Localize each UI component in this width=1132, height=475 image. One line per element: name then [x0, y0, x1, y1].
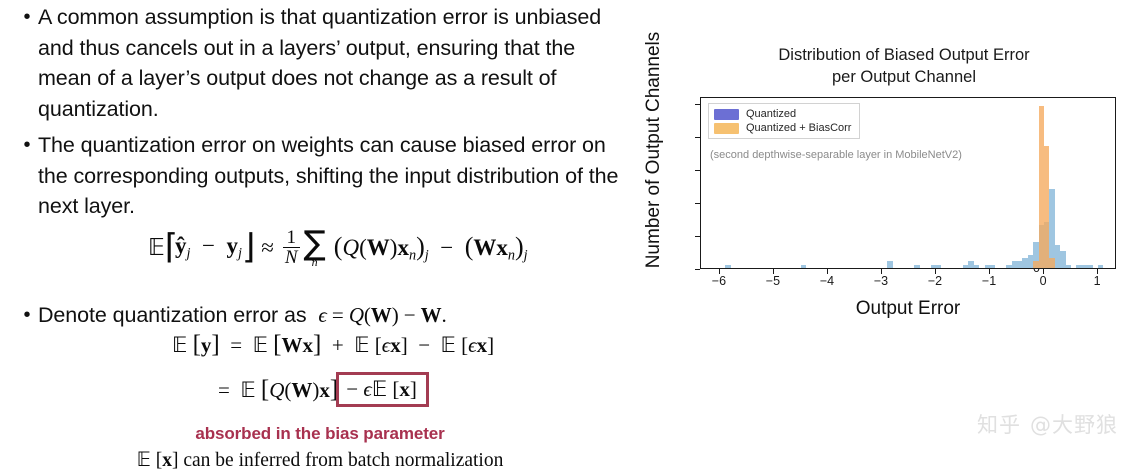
x-tick-mark [827, 269, 828, 274]
equation-expectation-expansion: 𝔼 [y] = 𝔼 [Wx] + 𝔼 [ϵx] − 𝔼 [ϵx] [172, 331, 494, 359]
bullet-item-1: • A common assumption is that quantizati… [16, 2, 626, 124]
watermark-handle: @大野狼 [1030, 409, 1118, 439]
caption-absorbed-in-bias: absorbed in the bias parameter [0, 424, 640, 444]
x-tick-label: −6 [699, 274, 739, 288]
x-tick-mark [989, 269, 990, 274]
caption-batchnorm: 𝔼 [x] can be inferred from batch normali… [0, 448, 640, 472]
legend-swatch-icon [714, 109, 739, 120]
bullet-text-2: The quantization error on weights can ca… [38, 130, 631, 222]
histogram-bar [1098, 265, 1103, 268]
bullet-item-2: • The quantization error on weights can … [16, 130, 631, 222]
histogram-bar [887, 261, 892, 268]
denote-equation: ϵ = Q(W) − W. [318, 303, 446, 327]
histogram-bar [1087, 265, 1092, 268]
x-tick-label: −4 [807, 274, 847, 288]
slide-content: • A common assumption is that quantizati… [0, 0, 640, 475]
x-tick-label: −5 [753, 274, 793, 288]
equation-1-body: ŷj − yj [175, 233, 242, 263]
chart-annotation: (second depthwise-separable layer in Mob… [710, 149, 962, 161]
legend-label-quantized: Quantized [746, 108, 796, 120]
zhihu-logo: 知乎 [977, 409, 1021, 439]
approx-sign: ≈ [261, 235, 274, 261]
y-axis-label: Number of Output Channels [643, 25, 665, 275]
x-tick-label: 1 [1077, 274, 1117, 288]
bullet-marker-icon: • [16, 130, 38, 160]
legend-swatch-icon [714, 123, 739, 134]
expectation-operator: 𝔼 [148, 235, 165, 261]
highlight-box-bias-term: − ϵ𝔼 [x] [336, 372, 429, 407]
equation-bias-absorbed: = 𝔼 [Q(W)x] − ϵ𝔼 [x] [218, 372, 429, 407]
histogram-bar [936, 265, 941, 268]
x-tick-label: 0 [1023, 274, 1063, 288]
histogram-bar [1044, 146, 1049, 268]
x-tick-label: −1 [969, 274, 1009, 288]
x-tick-mark [773, 269, 774, 274]
bullet-text-3: Denote quantization error as ϵ = Q(W) − … [38, 300, 447, 331]
bullet-item-3: • Denote quantization error as ϵ = Q(W) … [16, 300, 616, 331]
legend-label-quantized-biascorr: Quantized + BiasCorr [746, 122, 851, 134]
chart-title-line-2: per Output Channel [684, 66, 1124, 88]
x-tick-label: −3 [861, 274, 901, 288]
histogram-bar [990, 265, 995, 268]
chart-title: Distribution of Biased Output Error per … [684, 44, 1124, 88]
histogram-bar [914, 265, 919, 268]
summation-symbol: ∑ n [304, 229, 326, 267]
y-tick-mark [695, 269, 700, 270]
chart-legend: Quantized Quantized + BiasCorr [708, 103, 860, 139]
legend-item-quantized[interactable]: Quantized [714, 108, 851, 120]
x-tick-mark [1043, 269, 1044, 274]
bullet-text-1: A common assumption is that quantization… [38, 2, 626, 124]
histogram-bar [1049, 258, 1054, 268]
x-tick-mark [1097, 269, 1098, 274]
watermark: 知乎 @大野狼 [977, 409, 1118, 439]
equation-expected-error: 𝔼 ⌈ ŷj − yj ⌋ ≈ 1 N ∑ n (Q(W)xn)j − (Wxn… [148, 228, 528, 268]
bullet-marker-icon: • [16, 300, 38, 330]
histogram-bar [801, 265, 806, 268]
x-tick-mark [719, 269, 720, 274]
x-tick-label: −2 [915, 274, 955, 288]
x-axis-label: Output Error [698, 298, 1118, 320]
bullet-marker-icon: • [16, 2, 38, 32]
histogram-bar [725, 265, 730, 268]
x-tick-mark [881, 269, 882, 274]
x-tick-mark [935, 269, 936, 274]
histogram-bar [974, 265, 979, 268]
legend-item-quantized-biascorr[interactable]: Quantized + BiasCorr [714, 122, 851, 134]
equation-3-left: = 𝔼 [Q(W)x] [218, 376, 338, 404]
fraction-one-over-n: 1 N [283, 228, 300, 268]
equation-1-rhs: (Q(W)xn)j − (Wxn)j [334, 232, 528, 265]
histogram-bar [1066, 265, 1071, 268]
bracket-close: ⌋ [242, 234, 255, 261]
chart-title-line-1: Distribution of Biased Output Error [684, 44, 1124, 66]
chart-figure: Distribution of Biased Output Error per … [624, 44, 1124, 329]
